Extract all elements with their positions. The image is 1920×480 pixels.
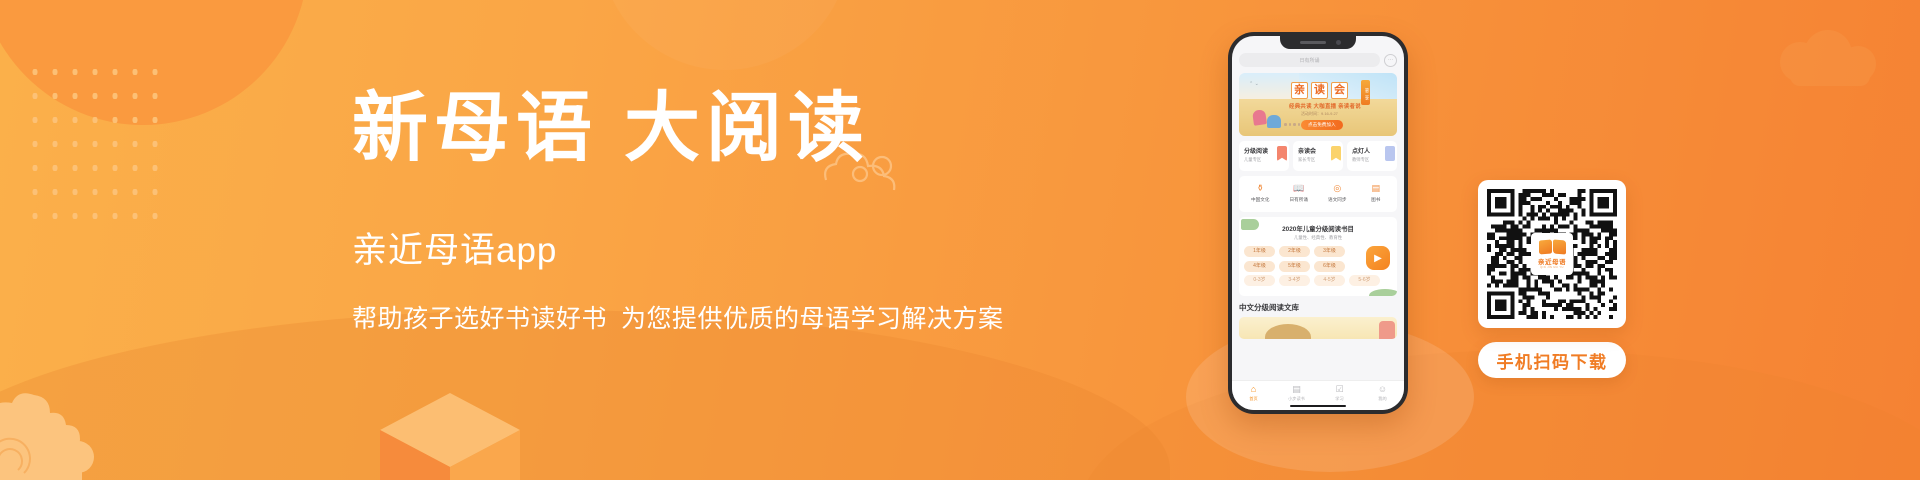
- library-arc: [1265, 324, 1311, 339]
- sync-icon: ◎: [1331, 182, 1343, 194]
- speaker-icon: [1300, 41, 1326, 44]
- hero-title-char-3: 会: [1331, 82, 1348, 99]
- play-video-button[interactable]: ▶: [1366, 246, 1390, 270]
- promo-banner: 新母语大阅读 亲近母语app 帮助孩子选好书读好书为您提供优质的母语学习解决方案…: [0, 0, 1920, 480]
- books-icon: ▤: [1370, 182, 1382, 194]
- hero-title: 亲 读 会: [1291, 82, 1348, 99]
- decorative-circle-top: [600, 0, 850, 70]
- age-button[interactable]: 5-6岁: [1349, 275, 1380, 286]
- qr-card: 亲近母语 QIN JIN MU YU: [1478, 180, 1626, 328]
- hero-title-char-1: 亲: [1291, 82, 1308, 99]
- quick-icon-label: 中国文化: [1241, 197, 1280, 203]
- quick-icon-label: 语文同步: [1318, 197, 1357, 203]
- camera-icon: [1336, 40, 1341, 45]
- tagline-part-1: 帮助孩子选好书读好书: [352, 305, 607, 333]
- age-button[interactable]: 3-4岁: [1279, 275, 1310, 286]
- phone-mockup: 日有所诵 ··· ⌃ ⌄ 亲 读 会 第二: [1228, 32, 1428, 450]
- page-title: 新母语大阅读: [352, 88, 1052, 170]
- hero-subtitle: 经典共读 大咖直播 亲读者说: [1289, 102, 1361, 110]
- qr-block: 亲近母语 QIN JIN MU YU 手机扫码下载: [1478, 180, 1626, 378]
- decorative-hill-left: [0, 310, 1170, 480]
- phone-screen: 日有所诵 ··· ⌃ ⌄ 亲 读 会 第二: [1232, 36, 1404, 410]
- tab-label: 首页: [1232, 396, 1275, 402]
- tab-label: 我的: [1361, 396, 1404, 402]
- banner-tagline: 帮助孩子选好书读好书为您提供优质的母语学习解决方案: [352, 299, 1052, 335]
- library-tab: [1379, 321, 1395, 339]
- quick-icon-1[interactable]: 📖 日有所诵: [1280, 182, 1319, 207]
- hero-title-char-2: 读: [1311, 82, 1328, 99]
- home-indicator: [1290, 405, 1346, 408]
- search-input[interactable]: 日有所诵: [1239, 53, 1380, 67]
- headline-part-1: 新母语: [352, 87, 598, 171]
- hero-season-flag: 第二季: [1361, 80, 1370, 105]
- quick-icon-2[interactable]: ◎ 语文同步: [1318, 182, 1357, 207]
- brand-logo: 亲近母语 QIN JIN MU YU: [1531, 233, 1573, 275]
- hero-join-button[interactable]: 点击免费加入: [1301, 120, 1343, 130]
- cloud-icon-right: [1770, 20, 1890, 90]
- age-button[interactable]: 4-5岁: [1314, 275, 1345, 286]
- quick-icon-row: ⚱ 中国文化 📖 日有所诵 ◎ 语文同步 ▤: [1239, 176, 1397, 212]
- leaf-icon-bottom: [1369, 289, 1397, 296]
- quick-icon-0[interactable]: ⚱ 中国文化: [1241, 182, 1280, 207]
- tab-label: 小步读书: [1275, 396, 1318, 402]
- logo-zh: 亲近母语: [1538, 256, 1566, 266]
- message-icon[interactable]: ···: [1384, 54, 1397, 67]
- library-title: 中文分级阅读文库: [1239, 302, 1397, 313]
- quick-icon-label: 日有所诵: [1280, 197, 1319, 203]
- cloud-icon-bottom-left: [0, 391, 107, 480]
- category-card-1[interactable]: 亲读会 家长专区: [1293, 141, 1343, 171]
- grade-buttons: 1年级 2年级 3年级 4年级 5年级 6年级 0-3岁: [1244, 246, 1392, 286]
- hero-date: 活动时间：9.16-9.27: [1301, 111, 1338, 117]
- category-cards: 分级阅读 儿童专区 亲读会 家长专区 点灯人 教师专区: [1239, 141, 1397, 171]
- category-card-0[interactable]: 分级阅读 儿童专区: [1239, 141, 1289, 171]
- home-icon: ⌂: [1232, 384, 1275, 395]
- culture-icon: ⚱: [1254, 182, 1266, 194]
- recite-icon: 📖: [1293, 182, 1305, 194]
- logo-en: QIN JIN MU YU: [1540, 266, 1563, 269]
- phone-notch: [1280, 36, 1356, 49]
- tab-profile[interactable]: ☺ 我的: [1361, 384, 1404, 402]
- profile-icon: ☺: [1361, 384, 1404, 395]
- grade-button[interactable]: 4年级: [1244, 261, 1275, 272]
- quick-icon-3[interactable]: ▤ 图书: [1357, 182, 1396, 207]
- phone-frame: 日有所诵 ··· ⌃ ⌄ 亲 读 会 第二: [1228, 32, 1408, 414]
- age-button[interactable]: 0-3岁: [1244, 275, 1275, 286]
- decorative-dot-grid: [25, 60, 165, 220]
- search-row: 日有所诵 ···: [1239, 53, 1397, 67]
- cloud-icon: [1385, 146, 1395, 161]
- grade-button[interactable]: 6年级: [1314, 261, 1345, 272]
- grade-button[interactable]: 1年级: [1244, 246, 1275, 257]
- grade-title: 2020年儿童分级阅读书目: [1244, 224, 1392, 233]
- grade-subtitle: 儿童性、经典性、教育性: [1244, 235, 1392, 241]
- download-button[interactable]: 手机扫码下载: [1478, 342, 1626, 378]
- grade-button[interactable]: 3年级: [1314, 246, 1345, 257]
- quick-icon-label: 图书: [1357, 197, 1396, 203]
- decorative-cube: [375, 385, 525, 480]
- app-name: 亲近母语app: [352, 222, 1052, 273]
- reading-icon: ▤: [1275, 384, 1318, 395]
- hero-banner[interactable]: ⌃ ⌄ 亲 读 会 第二季 经典共读 大咖直播 亲读者说 活动时间：9.16-9…: [1239, 73, 1397, 136]
- library-card[interactable]: [1239, 317, 1397, 339]
- grade-button[interactable]: 2年级: [1279, 246, 1310, 257]
- category-card-2[interactable]: 点灯人 教师专区: [1347, 141, 1397, 171]
- tab-home[interactable]: ⌂ 首页: [1232, 384, 1275, 402]
- tab-label: 学习: [1318, 396, 1361, 402]
- child-illustration-1: [1252, 109, 1267, 126]
- grade-booklist-card: 2020年儿童分级阅读书目 儿童性、经典性、教育性 1年级 2年级 3年级 4年…: [1239, 217, 1397, 296]
- birds-icon: ⌃ ⌄: [1249, 81, 1259, 87]
- grade-row-3: 0-3岁 3-4岁 4-5岁 5-6岁: [1244, 275, 1392, 286]
- decorative-circle-top-left: [0, 0, 308, 125]
- leaf-icon-top: [1241, 219, 1259, 230]
- study-icon: ☑: [1318, 384, 1361, 395]
- book-mark-icon: [1539, 240, 1566, 254]
- carousel-dots[interactable]: [1284, 123, 1300, 126]
- banner-copy: 新母语大阅读 亲近母语app 帮助孩子选好书读好书为您提供优质的母语学习解决方案: [352, 88, 1052, 335]
- grade-button[interactable]: 5年级: [1279, 261, 1310, 272]
- app-content: 日有所诵 ··· ⌃ ⌄ 亲 读 会 第二: [1232, 36, 1404, 339]
- tab-study[interactable]: ☑ 学习: [1318, 384, 1361, 402]
- child-illustration-2: [1267, 115, 1281, 128]
- tagline-part-2: 为您提供优质的母语学习解决方案: [621, 305, 1004, 333]
- headline-part-2: 大阅读: [624, 87, 870, 171]
- tab-reading[interactable]: ▤ 小步读书: [1275, 384, 1318, 402]
